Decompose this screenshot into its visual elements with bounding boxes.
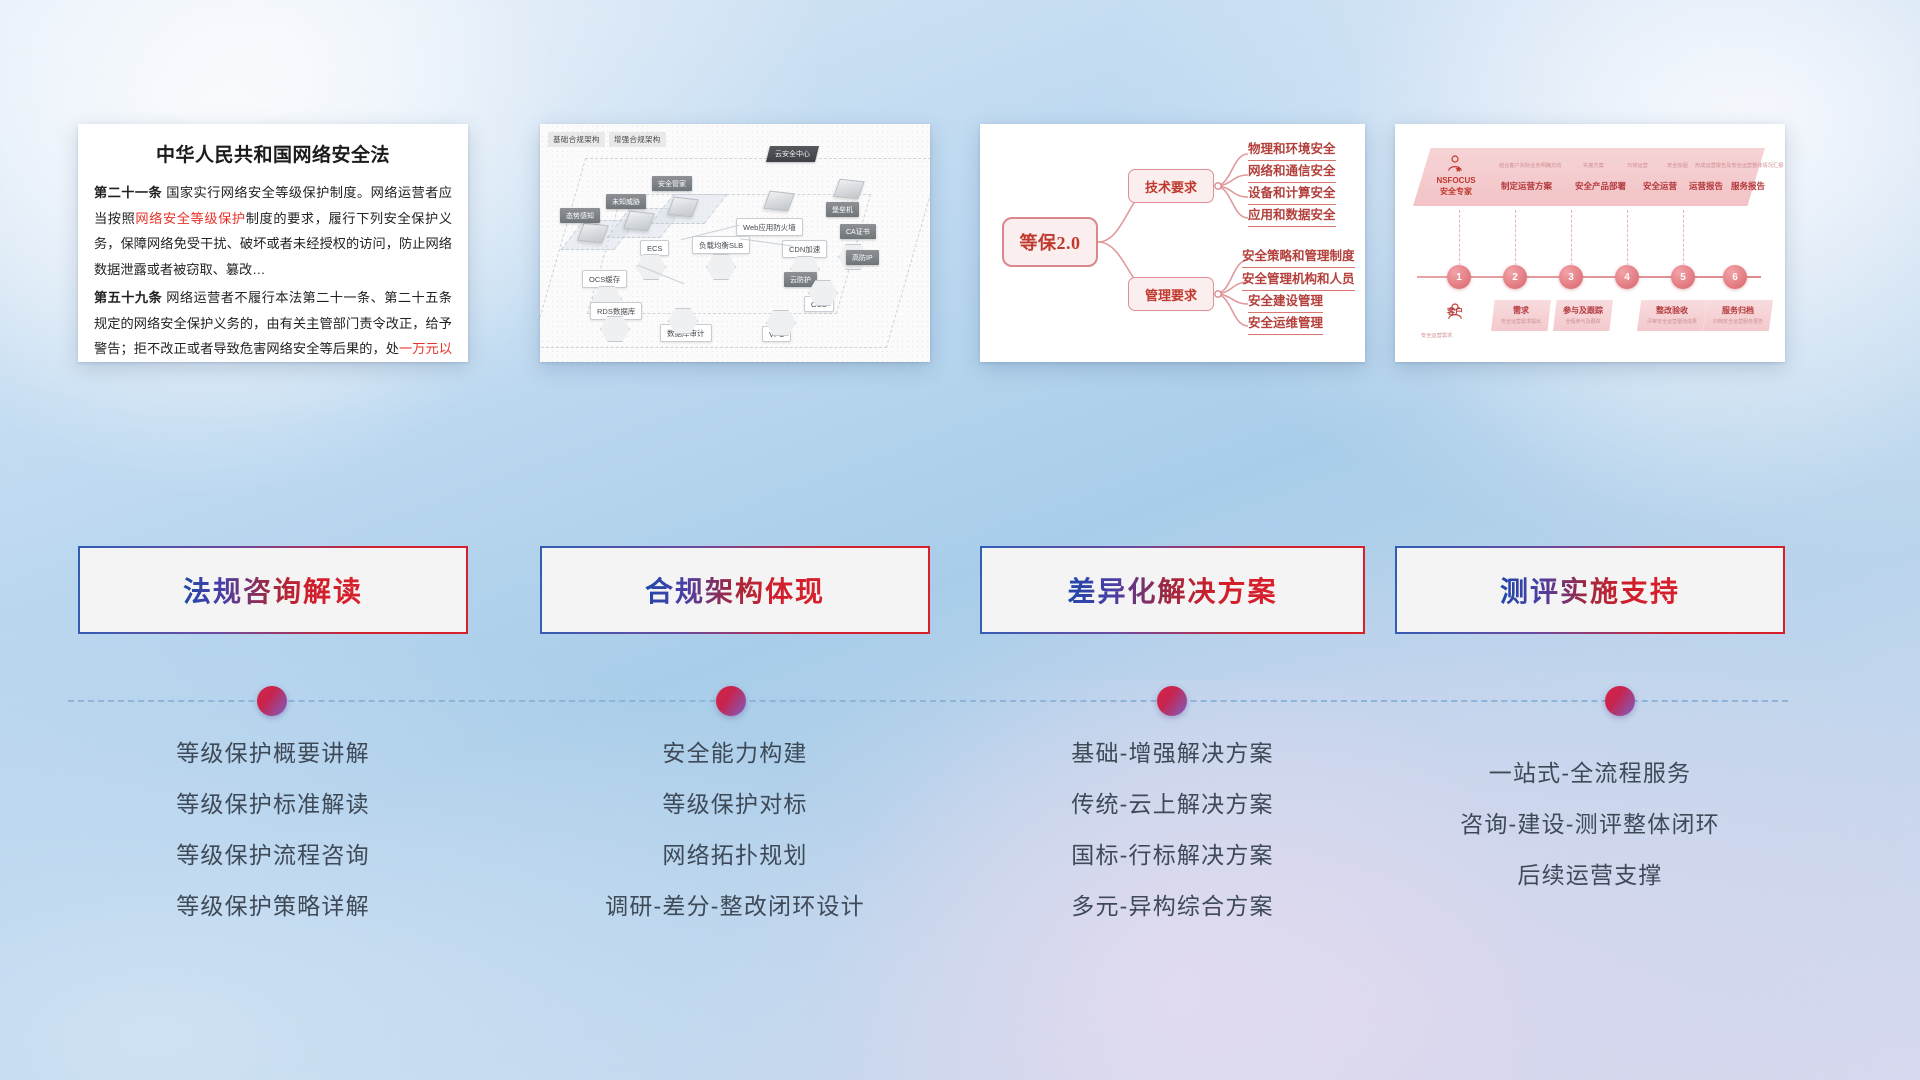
architecture-node-cdn[interactable]: CDN加速 xyxy=(782,240,827,258)
timeline-step-4[interactable]: 4 xyxy=(1615,265,1639,289)
timeline-brand: NSFOCUS 安全专家 xyxy=(1425,176,1487,198)
section-title-text-3: 差异化解决方案 xyxy=(1067,570,1277,610)
timeline-step-5[interactable]: 5 xyxy=(1671,265,1695,289)
mindmap-leaf-mgmt-1[interactable]: 安全策略和管理制度 xyxy=(1242,245,1355,268)
section-title-box-4[interactable]: 测评实施支持 xyxy=(1395,546,1785,634)
mindmap-leaf-tech-4[interactable]: 应用和数据安全 xyxy=(1248,204,1336,227)
section-list-3: 基础-增强解决方案 传统-云上解决方案 国标-行标解决方案 多元-异构综合方案 xyxy=(980,742,1365,946)
architecture-node-waf[interactable]: Web应用防火墙 xyxy=(736,218,803,236)
list-item[interactable]: 等级保护标准解读 xyxy=(78,793,468,816)
architecture-canvas: 基础合规架构 增强合规架构 云安全中心 态势感知 未知威胁 安全管家 Web应用… xyxy=(540,124,930,362)
card-mindmap[interactable]: 等保2.0 技术要求 管理要求 物理和环境安全 网络和通信安全 设备和计算安全 … xyxy=(980,124,1365,362)
list-item[interactable]: 等级保护策略详解 xyxy=(78,895,468,918)
timeline-customer-sub: 安全运营需求 xyxy=(1421,332,1452,339)
law-paragraph-2: 第五十九条 网络运营者不履行本法第二十一条、第二十五条规定的网络安全保护义务的，… xyxy=(94,285,452,362)
section-title-text-4: 测评实施支持 xyxy=(1500,570,1680,610)
list-item[interactable]: 国标-行标解决方案 xyxy=(980,844,1365,867)
list-item[interactable]: 咨询-建设-测评整体闭环 xyxy=(1395,813,1785,836)
timeline-bottom-tag-2[interactable]: 参与及跟踪 全程参与及跟踪 xyxy=(1553,300,1613,331)
timeline-band-title-5[interactable]: 服务报告 xyxy=(1731,180,1765,192)
section-title-box-1[interactable]: 法规咨询解读 xyxy=(78,546,468,634)
list-item[interactable]: 基础-增强解决方案 xyxy=(980,742,1365,765)
timeline-band-title-4[interactable]: 运营报告 xyxy=(1689,180,1723,192)
timeline-step-6[interactable]: 6 xyxy=(1723,265,1747,289)
section-list-1: 等级保护概要讲解 等级保护标准解读 等级保护流程咨询 等级保护策略详解 xyxy=(78,742,468,946)
card-law-text[interactable]: 中华人民共和国网络安全法 第二十一条 国家实行网络安全等级保护制度。网络运营者应… xyxy=(78,124,468,362)
mindmap-leaf-mgmt-4[interactable]: 安全运维管理 xyxy=(1248,312,1323,335)
list-item[interactable]: 等级保护流程咨询 xyxy=(78,844,468,867)
law-article-label-1: 第二十一条 xyxy=(94,185,162,200)
card-nsfocus-timeline[interactable]: NSFOCUS 安全专家 结合客户实际业务明确方向 制定运营方案 实施方案 安全… xyxy=(1395,124,1785,362)
timeline-bottom-tag-3-sub: 评审安全运营整改成果 xyxy=(1647,318,1697,325)
architecture-node-situational-awareness[interactable]: 态势感知 xyxy=(560,208,600,223)
timeline-band-sub-4: 安全加固 xyxy=(1667,162,1688,169)
list-item[interactable]: 传统-云上解决方案 xyxy=(980,793,1365,816)
timeline-brand-line2: 安全专家 xyxy=(1425,187,1487,198)
timeline-step-2[interactable]: 2 xyxy=(1503,265,1527,289)
architecture-node-unknown-threat[interactable]: 未知威胁 xyxy=(606,194,646,209)
mindmap-leaf-mgmt-3[interactable]: 安全建设管理 xyxy=(1248,290,1323,313)
rail-dot-4[interactable] xyxy=(1605,686,1635,716)
timeline-bottom-tag-1-title: 需求 xyxy=(1501,305,1541,316)
architecture-tabs: 基础合规架构 增强合规架构 xyxy=(548,132,666,147)
timeline-bottom-tag-4[interactable]: 服务归档 归档安全运营服务报告 xyxy=(1703,300,1773,331)
timeline-bottom-tag-1-sub: 安全运营需求提出 xyxy=(1501,318,1541,325)
timeline-step-3[interactable]: 3 xyxy=(1559,265,1583,289)
timeline-customer-title: 客户 xyxy=(1427,306,1483,317)
timeline-band-title-3[interactable]: 安全运营 xyxy=(1643,180,1677,192)
timeline-canvas: NSFOCUS 安全专家 结合客户实际业务明确方向 制定运营方案 实施方案 安全… xyxy=(1395,124,1785,362)
timeline-bottom-tag-4-title: 服务归档 xyxy=(1713,305,1763,316)
timeline-band-title-1[interactable]: 制定运营方案 xyxy=(1501,180,1552,192)
architecture-node-security-butler[interactable]: 安全管家 xyxy=(652,176,692,191)
mindmap-leaf-tech-3[interactable]: 设备和计算安全 xyxy=(1248,182,1336,205)
section-list-4: 一站式-全流程服务 咨询-建设-测评整体闭环 后续运营支撑 xyxy=(1395,742,1785,915)
law-body: 中华人民共和国网络安全法 第二十一条 国家实行网络安全等级保护制度。网络运营者应… xyxy=(78,124,468,362)
timeline-band-title-2[interactable]: 安全产品部署 xyxy=(1575,180,1626,192)
mindmap-leaf-tech-1[interactable]: 物理和环境安全 xyxy=(1248,138,1336,161)
architecture-tab-enhanced[interactable]: 增强合规架构 xyxy=(609,132,666,147)
timeline-step-1[interactable]: 1 xyxy=(1447,265,1471,289)
card-architecture-diagram[interactable]: 基础合规架构 增强合规架构 云安全中心 态势感知 未知威胁 安全管家 Web应用… xyxy=(540,124,930,362)
image-card-row: 中华人民共和国网络安全法 第二十一条 国家实行网络安全等级保护制度。网络运营者应… xyxy=(0,124,1920,364)
architecture-node-ecs[interactable]: ECS xyxy=(640,240,669,256)
architecture-node-cloud-protect[interactable]: 云防护 xyxy=(784,272,817,287)
section-title-text-2: 合规架构体现 xyxy=(645,570,825,610)
mindmap-leaf-tech-2[interactable]: 网络和通信安全 xyxy=(1248,160,1336,183)
list-item[interactable]: 等级保护概要讲解 xyxy=(78,742,468,765)
section-title-row: 法规咨询解读 合规架构体现 差异化解决方案 测评实施支持 xyxy=(0,546,1920,634)
timeline-band-sub-3: 日常运营 xyxy=(1627,162,1648,169)
section-title-box-2[interactable]: 合规架构体现 xyxy=(540,546,930,634)
timeline-dash-1 xyxy=(1459,210,1460,266)
timeline-bottom-tag-1[interactable]: 需求 安全运营需求提出 xyxy=(1491,300,1551,331)
timeline-band-sub-5: 形成运营报告及安全运营整体情况汇报 xyxy=(1695,162,1783,169)
architecture-node-anti-ddos[interactable]: 高防IP xyxy=(846,250,879,265)
section-title-box-3[interactable]: 差异化解决方案 xyxy=(980,546,1365,634)
law-seg-1-1: 网络安全等级保护 xyxy=(135,211,245,226)
timeline-dash-2 xyxy=(1515,210,1516,266)
timeline-bottom-tag-2-sub: 全程参与及跟踪 xyxy=(1563,318,1603,325)
timeline-dash-4 xyxy=(1627,210,1628,266)
timeline-band-sub-1: 结合客户实际业务明确方向 xyxy=(1499,162,1561,169)
timeline-rail xyxy=(68,700,1788,702)
list-item[interactable]: 后续运营支撑 xyxy=(1395,864,1785,887)
mindmap-branch-management[interactable]: 管理要求 xyxy=(1128,277,1214,311)
list-item[interactable]: 多元-异构综合方案 xyxy=(980,895,1365,918)
section-list-2: 安全能力构建 等级保护对标 网络拓扑规划 调研-差分-整改闭环设计 xyxy=(540,742,930,946)
law-article-label-2: 第五十九条 xyxy=(94,290,162,305)
mindmap-branch-technical[interactable]: 技术要求 xyxy=(1128,169,1214,203)
list-item[interactable]: 调研-差分-整改闭环设计 xyxy=(540,895,930,918)
rail-dot-2[interactable] xyxy=(716,686,746,716)
timeline-bottom-tag-4-sub: 归档安全运营服务报告 xyxy=(1713,318,1763,325)
timeline-bottom-tag-3[interactable]: 整改验收 评审安全运营整改成果 xyxy=(1637,300,1707,331)
timeline-dash-5 xyxy=(1683,210,1684,266)
mindmap-leaf-mgmt-2[interactable]: 安全管理机构和人员 xyxy=(1242,268,1355,291)
law-paragraph-1: 第二十一条 国家实行网络安全等级保护制度。网络运营者应当按照网络安全等级保护制度… xyxy=(94,180,452,283)
architecture-node-ca-cert[interactable]: CA证书 xyxy=(840,224,876,239)
architecture-node-cloud-security-center[interactable]: 云安全中心 xyxy=(766,146,819,162)
architecture-node-bastion[interactable]: 堡垒机 xyxy=(826,202,859,217)
timeline-customer: 客户 xyxy=(1427,306,1483,317)
list-item[interactable]: 等级保护对标 xyxy=(540,793,930,816)
rail-dot-1[interactable] xyxy=(257,686,287,716)
timeline-brand-line1: NSFOCUS xyxy=(1425,176,1487,187)
timeline-band-sub-2: 实施方案 xyxy=(1583,162,1604,169)
timeline-bottom-tag-2-title: 参与及跟踪 xyxy=(1563,305,1603,316)
timeline-bottom-tag-3-title: 整改验收 xyxy=(1647,305,1697,316)
architecture-tab-basic[interactable]: 基础合规架构 xyxy=(548,132,605,147)
law-title: 中华人民共和国网络安全法 xyxy=(94,140,452,167)
list-item[interactable]: 一站式-全流程服务 xyxy=(1395,762,1785,785)
architecture-node-ocs[interactable]: OCS缓存 xyxy=(582,270,627,288)
list-item[interactable]: 安全能力构建 xyxy=(540,742,930,765)
rail-dot-3[interactable] xyxy=(1157,686,1187,716)
timeline-dash-3 xyxy=(1571,210,1572,266)
list-item[interactable]: 网络拓扑规划 xyxy=(540,844,930,867)
mindmap-root[interactable]: 等保2.0 xyxy=(1002,217,1098,267)
security-expert-icon xyxy=(1445,154,1465,174)
section-title-text-1: 法规咨询解读 xyxy=(183,570,363,610)
mindmap-canvas: 等保2.0 技术要求 管理要求 物理和环境安全 网络和通信安全 设备和计算安全 … xyxy=(980,124,1365,362)
